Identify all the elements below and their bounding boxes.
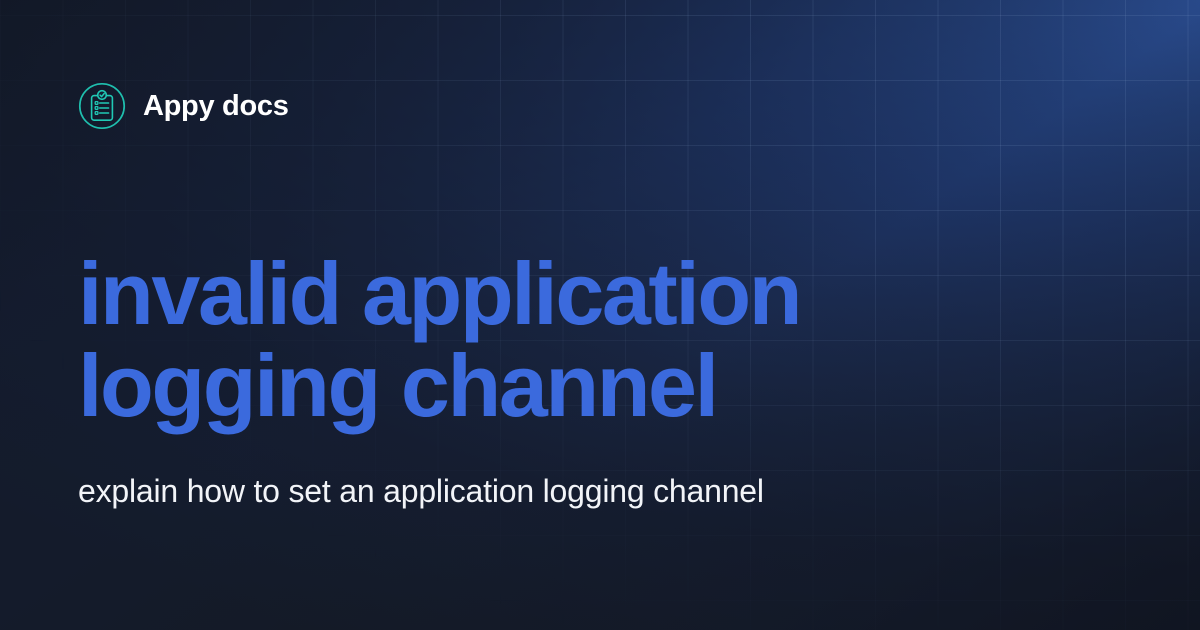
og-card: Appy docs invalid application logging ch… (0, 0, 1200, 630)
brand: Appy docs (78, 82, 289, 130)
brand-name: Appy docs (143, 92, 289, 121)
page-title: invalid application logging channel (78, 248, 1038, 432)
page-subtitle: explain how to set an application loggin… (78, 470, 808, 513)
clipboard-checklist-icon (78, 82, 126, 130)
